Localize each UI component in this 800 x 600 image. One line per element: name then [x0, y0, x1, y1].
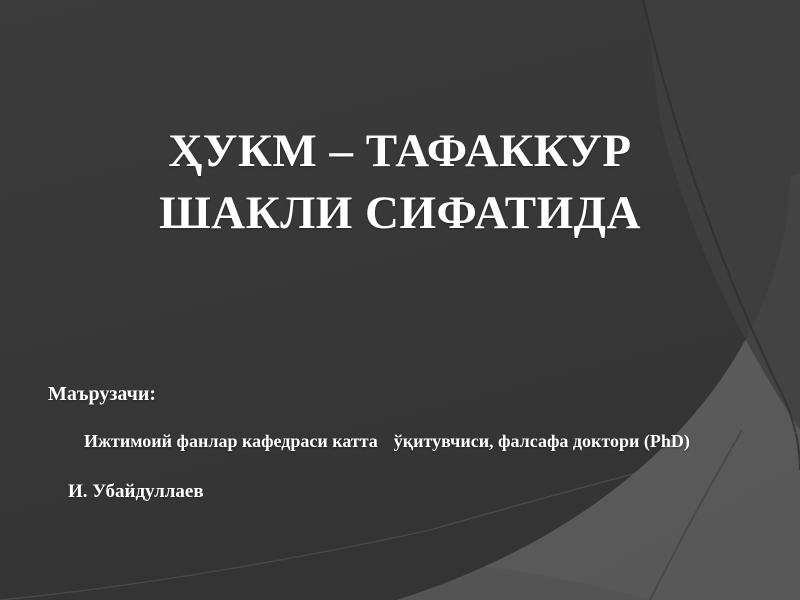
title-line-2: ШАКЛИ СИФАТИДА — [40, 182, 760, 244]
presenter-description-line-1: Ижтимоий фанлар кафедраси катта — [84, 431, 378, 451]
title-line-1: ҲУКМ – ТАФАККУР — [40, 120, 760, 182]
slide-title: ҲУКМ – ТАФАККУР ШАКЛИ СИФАТИДА — [40, 120, 760, 244]
slide-content: ҲУКМ – ТАФАККУР ШАКЛИ СИФАТИДА Маърузачи… — [0, 0, 800, 600]
presenter-description: Ижтимоий фанлар кафедраси каттаўқитувчис… — [0, 424, 800, 459]
presenter-name: И. Убайдуллаев — [0, 481, 800, 504]
presentation-slide: ҲУКМ – ТАФАККУР ШАКЛИ СИФАТИДА Маърузачи… — [0, 0, 800, 600]
slide-subtitle: Маърузачи: Ижтимоий фанлар кафедраси кат… — [0, 382, 800, 504]
presenter-description-line-2: ўқитувчиси, фалсафа доктори (PhD) — [394, 431, 690, 451]
presenter-label: Маърузачи: — [0, 382, 800, 406]
